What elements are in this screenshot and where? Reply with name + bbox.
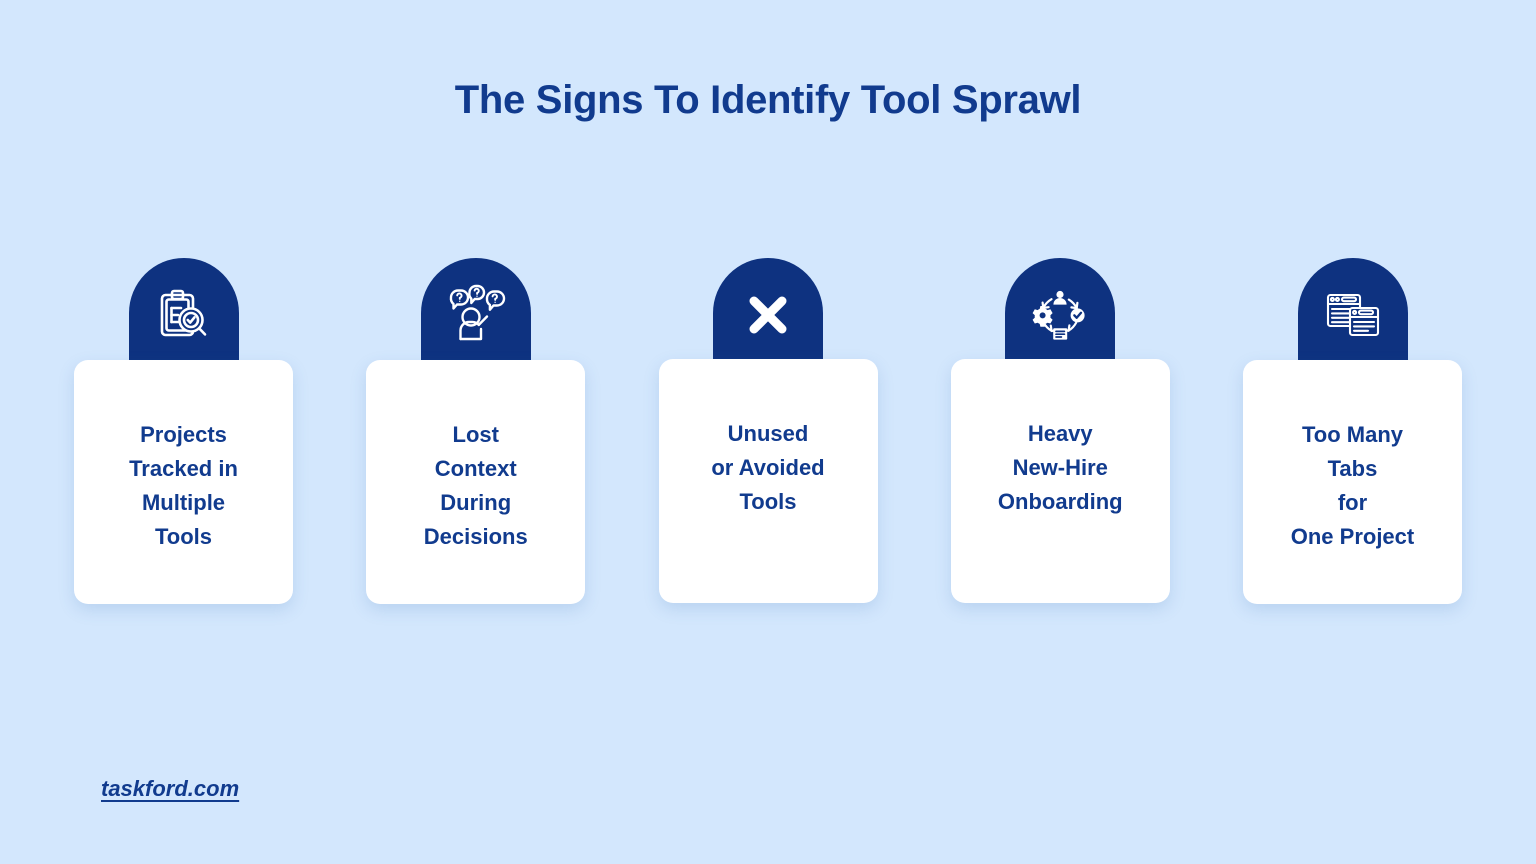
card-panel: Projects Tracked in Multiple Tools (74, 360, 293, 604)
icon-arch (421, 258, 531, 363)
sign-card-label: Too Many Tabs for One Project (1291, 418, 1414, 554)
sign-card-label: Unused or Avoided Tools (711, 417, 824, 519)
sign-card-projects-tracked: Projects Tracked in Multiple Tools (74, 258, 293, 606)
card-panel: Heavy New-Hire Onboarding (951, 359, 1170, 603)
page-title: The Signs To Identify Tool Sprawl (0, 78, 1536, 123)
sign-card-onboarding: Heavy New-Hire Onboarding (951, 258, 1170, 606)
sign-card-label: Heavy New-Hire Onboarding (998, 417, 1123, 519)
sign-card-label: Lost Context During Decisions (424, 418, 528, 554)
cross-x-icon (743, 290, 793, 340)
sign-card-label: Projects Tracked in Multiple Tools (129, 418, 238, 554)
sign-card-too-many-tabs: Too Many Tabs for One Project (1243, 258, 1462, 606)
icon-arch (1005, 258, 1115, 363)
card-panel: Unused or Avoided Tools (659, 359, 878, 603)
icon-arch (129, 258, 239, 363)
sign-card-unused-tools: Unused or Avoided Tools (659, 258, 878, 606)
card-panel: Lost Context During Decisions (366, 360, 585, 604)
sign-card-lost-context: Lost Context During Decisions (366, 258, 585, 606)
card-panel: Too Many Tabs for One Project (1243, 360, 1462, 604)
signs-card-row: Projects Tracked in Multiple Tools (74, 258, 1462, 606)
onboarding-cycle-icon (1031, 286, 1089, 344)
icon-arch (1298, 258, 1408, 363)
icon-arch (713, 258, 823, 363)
multiple-browser-windows-icon (1324, 286, 1382, 344)
clipboard-magnifier-check-icon (155, 286, 213, 344)
confused-person-question-bubbles-icon (447, 286, 505, 344)
footer-website-link[interactable]: taskford.com (101, 776, 239, 802)
